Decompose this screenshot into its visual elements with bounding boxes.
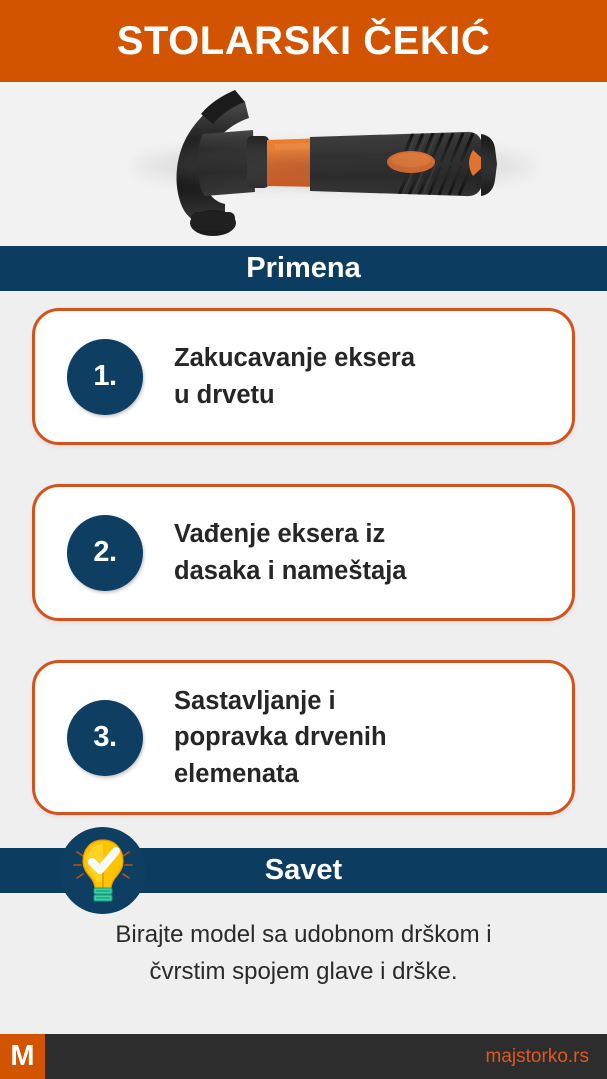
- section-label-savet: Savet: [265, 856, 342, 885]
- list-item[interactable]: 2. Vađenje eksera iz dasaka i nameštaja: [32, 484, 575, 621]
- section-label-primena: Primena: [246, 254, 360, 283]
- step-number-badge: 2.: [67, 515, 143, 591]
- infographic-poster: STOLARSKI ČEKIĆ: [0, 0, 607, 1079]
- claw-hammer-photo: [95, 84, 545, 244]
- page-title: STOLARSKI ČEKIĆ: [117, 21, 490, 61]
- hero-image-area: [0, 82, 607, 246]
- header-bar: STOLARSKI ČEKIĆ: [0, 0, 607, 82]
- tip-text: Birajte model sa udobnom drškom i čvrsti…: [60, 916, 547, 990]
- hammer-drop-shadow: [135, 140, 535, 192]
- lightbulb-check-icon: [59, 827, 146, 914]
- list-item-text: Sastavljanje i popravka drvenih elemenat…: [174, 683, 387, 792]
- brand-logo: M: [0, 1034, 45, 1079]
- list-item-text: Vađenje eksera iz dasaka i nameštaja: [174, 516, 406, 588]
- list-item[interactable]: 3. Sastavljanje i popravka drvenih eleme…: [32, 660, 575, 815]
- lightbulb-check-glyph: [72, 838, 134, 904]
- step-number-badge: 3.: [67, 700, 143, 776]
- footer-bar: M majstorko.rs: [0, 1034, 607, 1079]
- step-number-badge: 1.: [67, 339, 143, 415]
- list-item-text: Zakucavanje eksera u drvetu: [174, 340, 415, 412]
- website-label: majstorko.rs: [486, 1046, 589, 1068]
- list-item[interactable]: 1. Zakucavanje eksera u drvetu: [32, 308, 575, 445]
- section-bar-primena: Primena: [0, 246, 607, 291]
